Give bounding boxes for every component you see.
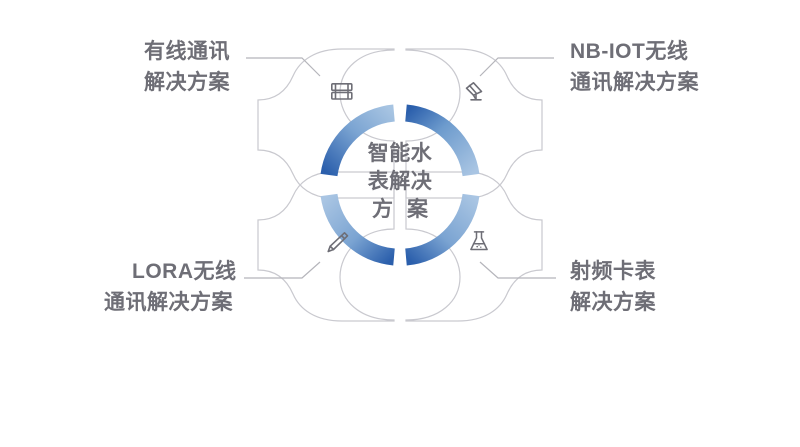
label-top-left-line2: 解决方案 — [144, 67, 230, 98]
connector-top-left — [246, 58, 320, 76]
connector-bottom-right — [480, 262, 556, 278]
label-top-left-line1: 有线通讯 — [144, 36, 230, 67]
center-label-line1: 智能水 — [340, 140, 460, 168]
label-top-right: NB-IOT无线 通讯解决方案 — [570, 36, 699, 98]
label-top-left: 有线通讯 解决方案 — [144, 36, 230, 98]
center-label-line3: 方案 — [340, 196, 460, 224]
diagram-canvas: 有线通讯 解决方案 NB-IOT无线 通讯解决方案 LORA无线 通讯解决方案 … — [0, 0, 800, 447]
satellite-dish-icon[interactable] — [467, 83, 482, 100]
label-bottom-left: LORA无线 通讯解决方案 — [104, 256, 237, 318]
connector-top-right — [480, 58, 554, 76]
center-label-line2: 表解决 — [340, 168, 460, 196]
center-label: 智能水 表解决 方案 — [340, 140, 460, 224]
label-bottom-left-line1: LORA无线 — [104, 256, 237, 287]
label-bottom-right-line1: 射频卡表 — [570, 256, 656, 287]
label-top-right-line1: NB-IOT无线 — [570, 36, 699, 67]
label-top-right-line2: 通讯解决方案 — [570, 67, 699, 98]
label-bottom-left-line2: 通讯解决方案 — [104, 287, 237, 318]
connector-bottom-left — [244, 262, 320, 278]
layers-icon[interactable] — [332, 84, 352, 99]
label-bottom-right-line2: 解决方案 — [570, 287, 656, 318]
flask-icon[interactable] — [471, 232, 487, 250]
label-bottom-right: 射频卡表 解决方案 — [570, 256, 656, 318]
